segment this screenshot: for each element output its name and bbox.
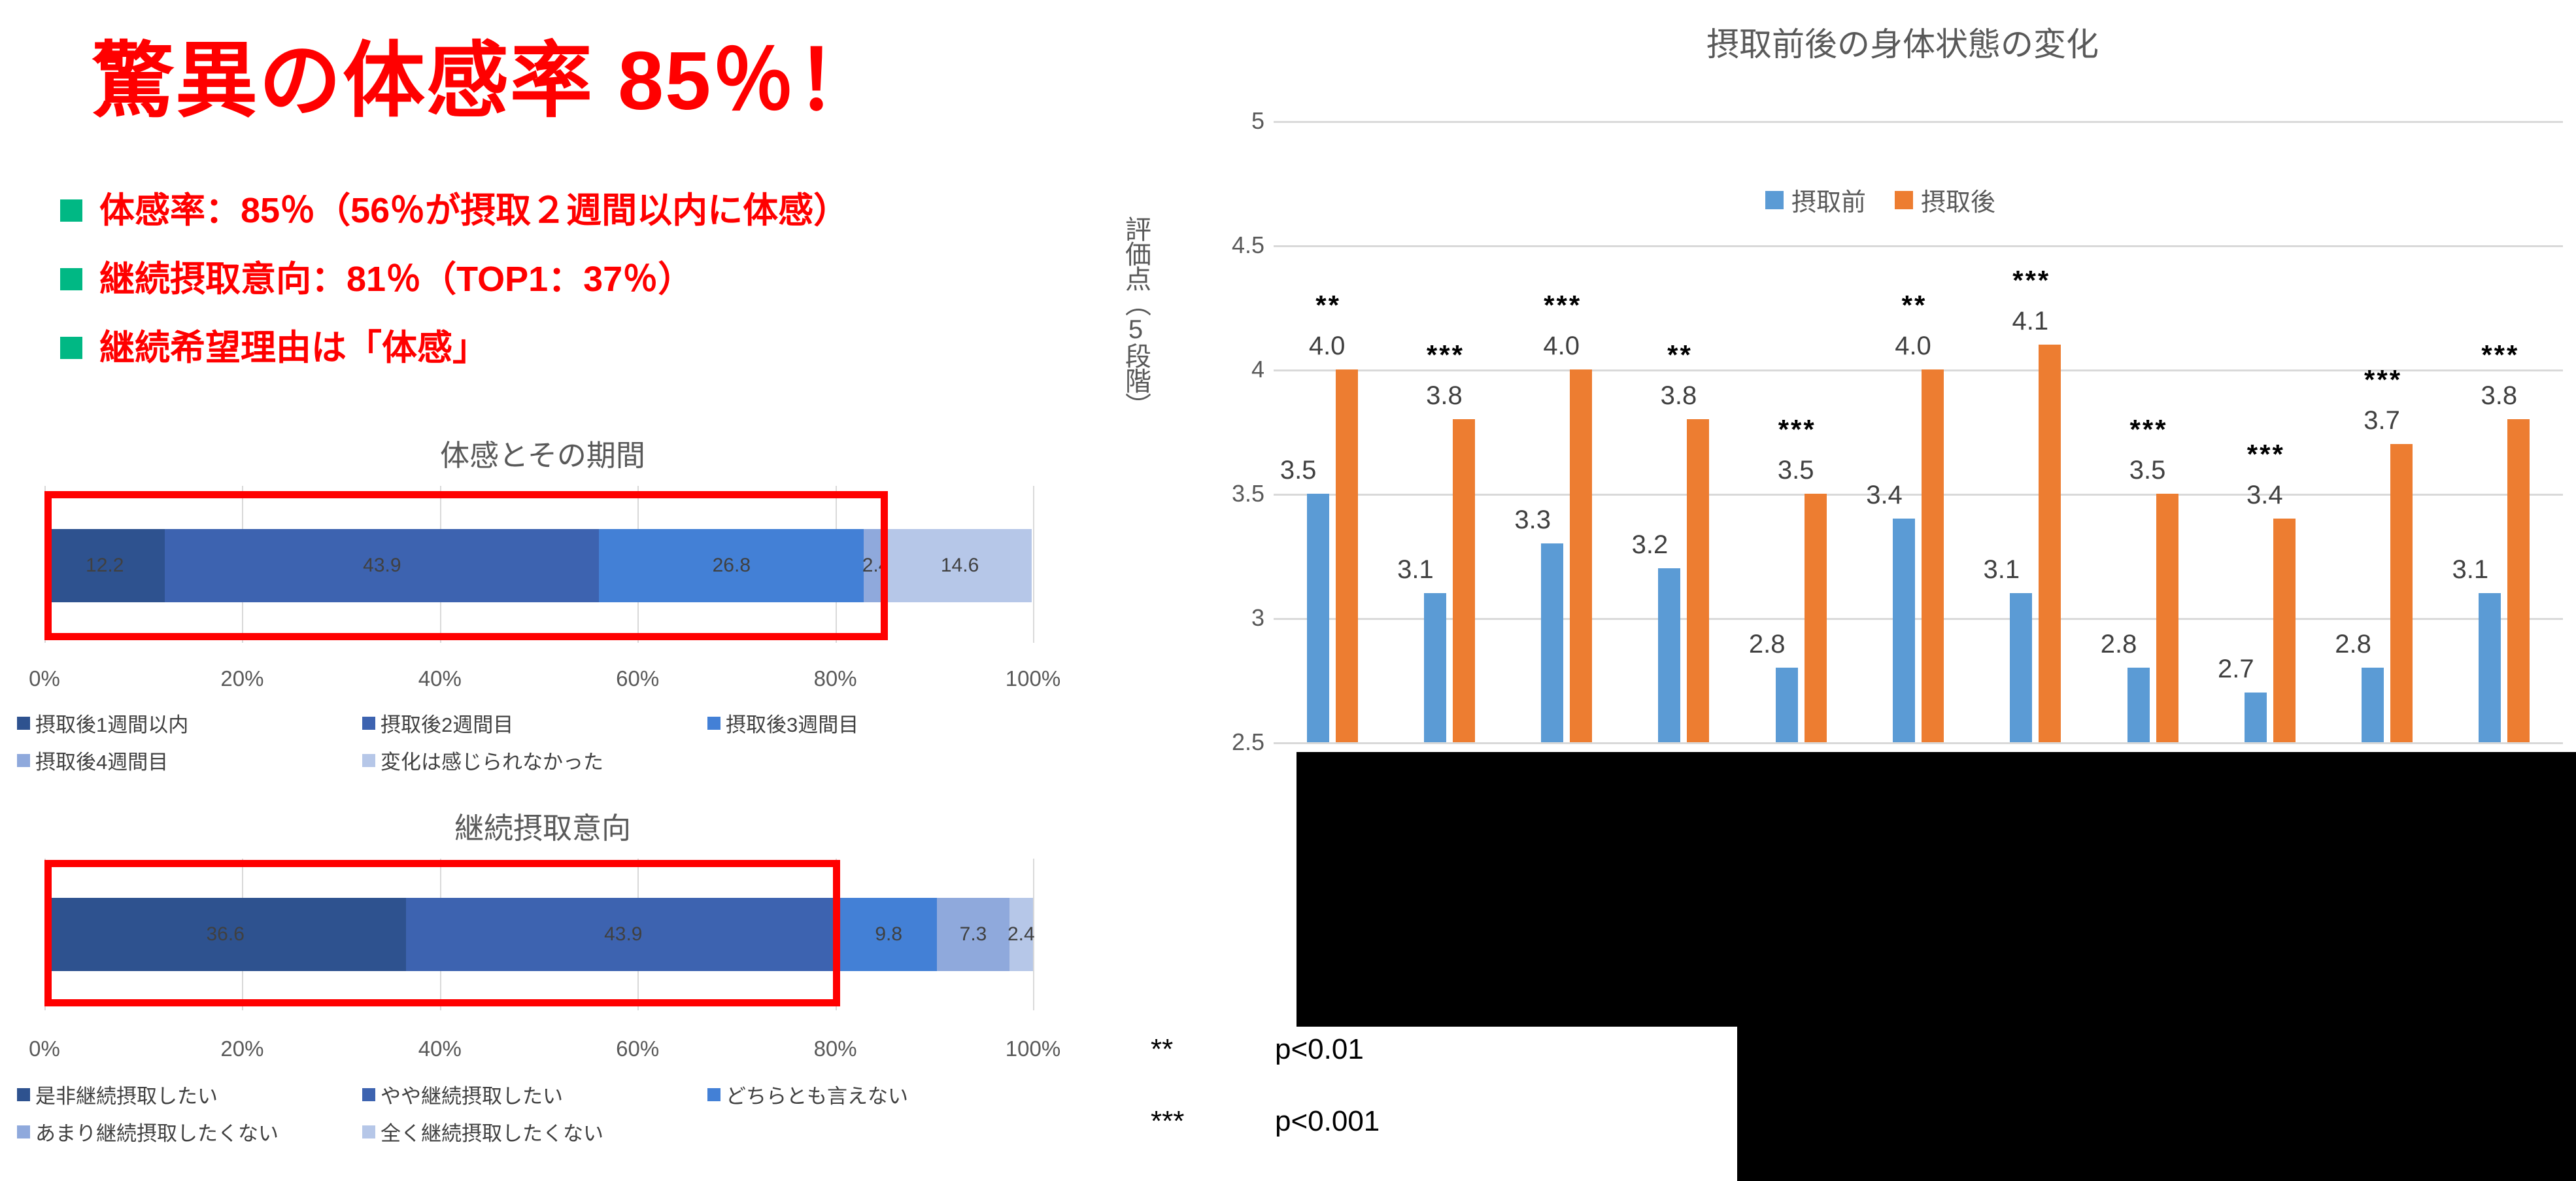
value-label-before: 3.5 bbox=[1280, 456, 1317, 485]
legend-swatch bbox=[17, 754, 30, 767]
legend-swatch bbox=[707, 1088, 720, 1101]
bar-before bbox=[1658, 568, 1680, 742]
legend-label: 摂取後4週間目 bbox=[35, 745, 168, 775]
bar-after bbox=[1336, 369, 1358, 742]
value-label-after: 3.5 bbox=[2129, 456, 2166, 485]
significance-marker: *** bbox=[1778, 414, 1816, 445]
x-tick-label: 100% bbox=[1006, 1036, 1060, 1061]
bar-before bbox=[1893, 519, 1915, 742]
significance-marker: *** bbox=[2012, 265, 2050, 296]
stack-segment: 36.6 bbox=[44, 898, 406, 971]
y-tick-label: 3 bbox=[1186, 604, 1264, 632]
legend-item: やや継続摂取したい bbox=[362, 1080, 707, 1109]
value-label-after: 3.8 bbox=[2481, 381, 2518, 411]
legend-label: 変化は感じられなかった bbox=[381, 745, 603, 775]
value-label-before: 2.7 bbox=[2218, 655, 2254, 684]
legend-label: あまり継続摂取したくない bbox=[35, 1117, 279, 1146]
legend-item: 変化は感じられなかった bbox=[362, 745, 707, 775]
bar-before bbox=[1541, 543, 1563, 742]
bullet-square-icon bbox=[60, 199, 82, 222]
stack-segment: 14.6 bbox=[888, 529, 1032, 602]
legend-item: 是非継続摂取したい bbox=[17, 1080, 362, 1109]
value-label-before: 2.8 bbox=[1749, 630, 1786, 659]
bullet-item-2: 継続摂取意向：81％（TOP1：37％） bbox=[60, 262, 693, 297]
chart-keizoku-intent: 継続摂取意向 36.643.99.87.32.4 0%20%40%60%80%1… bbox=[0, 804, 1085, 1154]
gridline bbox=[1033, 486, 1034, 643]
value-label-after: 3.5 bbox=[1778, 456, 1814, 485]
bar-before bbox=[2245, 693, 2267, 742]
bullet-item-1: 体感率：85％（56％が摂取２週間以内に体感） bbox=[60, 193, 849, 228]
stack-segment: 2.4 bbox=[1009, 898, 1033, 971]
legend-label: どちらとも言えない bbox=[726, 1080, 908, 1109]
chart2-x-axis: 0%20%40%60%80%100% bbox=[44, 1036, 1033, 1070]
chart3-plot-area: 2.533.544.553.54.0**3.13.8***3.34.0***3.… bbox=[1196, 121, 2563, 742]
gridline bbox=[1274, 742, 2563, 744]
chart3-y-axis-title: 評価点（5段階） bbox=[1117, 216, 1155, 582]
redaction-block-lower bbox=[1737, 1027, 2576, 1181]
bar-before bbox=[2479, 593, 2501, 742]
legend-label: 摂取後2週間目 bbox=[381, 708, 513, 738]
stack-segment: 7.3 bbox=[937, 898, 1009, 971]
bar-after bbox=[1687, 419, 1709, 742]
y-tick-label: 5 bbox=[1186, 107, 1264, 135]
significance-marker: *** bbox=[2247, 439, 2285, 470]
x-tick-label: 0% bbox=[29, 666, 60, 691]
stack-segment: 43.9 bbox=[406, 898, 840, 971]
significance-marker: ** bbox=[1315, 290, 1341, 321]
bullet-label-1: 体感率：85％（56％が摂取２週間以内に体感） bbox=[99, 193, 849, 228]
value-label-after: 3.7 bbox=[2364, 406, 2400, 436]
bar-before bbox=[1776, 668, 1798, 742]
significance-marker: ** bbox=[1902, 290, 1927, 321]
significance-marker: *** bbox=[2481, 339, 2519, 371]
legend-swatch bbox=[362, 1125, 375, 1138]
chart2-title: 継続摂取意向 bbox=[0, 804, 1085, 847]
value-label-before: 3.1 bbox=[2452, 555, 2489, 585]
bar-after bbox=[2273, 519, 2296, 742]
x-tick-label: 40% bbox=[418, 1036, 462, 1061]
x-tick-label: 0% bbox=[29, 1036, 60, 1061]
chart2-plot-area: 36.643.99.87.32.4 bbox=[44, 859, 1033, 1010]
legend-item: 摂取後3週間目 bbox=[707, 708, 1053, 738]
x-tick-label: 20% bbox=[220, 666, 263, 691]
x-tick-label: 60% bbox=[616, 666, 659, 691]
value-label-before: 2.8 bbox=[2335, 630, 2371, 659]
x-tick-label: 100% bbox=[1006, 666, 1060, 691]
bar-after bbox=[1453, 419, 1475, 742]
stack-segment: 9.8 bbox=[840, 898, 937, 971]
y-tick-label: 4.5 bbox=[1186, 231, 1264, 259]
value-label-after: 3.8 bbox=[1661, 381, 1697, 411]
bar-after bbox=[2039, 345, 2061, 742]
pnote-stars-1: ** bbox=[1151, 1033, 1173, 1066]
pnote-text-1: p<0.01 bbox=[1275, 1033, 1364, 1066]
legend-label: 是非継続摂取したい bbox=[35, 1080, 218, 1109]
bar-before bbox=[1307, 494, 1329, 742]
y-tick-label: 4 bbox=[1186, 356, 1264, 383]
page-headline: 驚異の体感率 85％！ bbox=[92, 14, 879, 133]
chart1-x-axis: 0%20%40%60%80%100% bbox=[44, 666, 1033, 700]
legend-item: あまり継続摂取したくない bbox=[17, 1117, 362, 1146]
pnote-text-2: p<0.001 bbox=[1275, 1105, 1380, 1138]
value-label-after: 3.4 bbox=[2246, 481, 2283, 510]
stack-segment: 2.4 bbox=[864, 529, 887, 602]
legend-item: どちらとも言えない bbox=[707, 1080, 1053, 1109]
bar-after bbox=[1570, 369, 1592, 742]
stack-segment: 26.8 bbox=[599, 529, 864, 602]
chart2-legend: 是非継続摂取したいやや継続摂取したいどちらとも言えないあまり継続摂取したくない全… bbox=[17, 1080, 1063, 1154]
bullet-item-3: 継続希望理由は「体感」 bbox=[60, 330, 488, 366]
bullet-square-icon bbox=[60, 337, 82, 359]
value-label-before: 3.1 bbox=[1983, 555, 2020, 585]
legend-item: 摂取後1週間以内 bbox=[17, 708, 362, 738]
bar-after bbox=[1805, 494, 1827, 742]
legend-label: 全く継続摂取したくない bbox=[381, 1117, 603, 1146]
chart1-legend: 摂取後1週間以内摂取後2週間目摂取後3週間目摂取後4週間目変化は感じられなかった bbox=[17, 708, 1063, 783]
legend-swatch bbox=[362, 717, 375, 730]
significance-marker: *** bbox=[2130, 414, 2168, 445]
stack-segment: 12.2 bbox=[44, 529, 165, 602]
legend-swatch bbox=[362, 754, 375, 767]
legend-swatch bbox=[362, 1088, 375, 1101]
significance-marker: *** bbox=[1544, 290, 1582, 321]
x-tick-label: 80% bbox=[814, 666, 857, 691]
legend-item: 摂取後4週間目 bbox=[17, 745, 362, 775]
value-label-before: 3.3 bbox=[1514, 505, 1551, 535]
significance-marker: *** bbox=[1427, 339, 1465, 371]
gridline bbox=[1274, 121, 2563, 123]
bar-after bbox=[1922, 369, 1944, 742]
legend-label: 摂取後3週間目 bbox=[726, 708, 858, 738]
chart3-title: 摂取前後の身体状態の変化 bbox=[1281, 18, 2524, 65]
value-label-after: 4.1 bbox=[2012, 307, 2048, 336]
value-label-after: 4.0 bbox=[1543, 332, 1580, 361]
x-tick-label: 20% bbox=[220, 1036, 263, 1061]
legend-swatch bbox=[707, 717, 720, 730]
legend-swatch bbox=[17, 1088, 30, 1101]
chart-taikan-period: 体感とその期間 12.243.926.82.414.6 0%20%40%60%8… bbox=[0, 432, 1085, 783]
significance-marker: ** bbox=[1667, 339, 1693, 371]
gridline bbox=[1274, 245, 2563, 247]
bullet-square-icon bbox=[60, 268, 82, 290]
chart1-title: 体感とその期間 bbox=[0, 432, 1085, 474]
legend-swatch bbox=[17, 1125, 30, 1138]
stacked-bar: 12.243.926.82.414.6 bbox=[44, 529, 1033, 602]
bar-after bbox=[2390, 444, 2413, 742]
value-label-before: 2.8 bbox=[2101, 630, 2137, 659]
x-tick-label: 80% bbox=[814, 1036, 857, 1061]
pnote-stars-2: *** bbox=[1151, 1105, 1184, 1138]
stacked-bar: 36.643.99.87.32.4 bbox=[44, 898, 1033, 971]
bullet-label-3: 継続希望理由は「体感」 bbox=[99, 330, 488, 366]
chart1-plot-area: 12.243.926.82.414.6 bbox=[44, 486, 1033, 643]
y-tick-label: 2.5 bbox=[1186, 728, 1264, 756]
bar-before bbox=[2362, 668, 2384, 742]
x-tick-label: 40% bbox=[418, 666, 462, 691]
value-label-before: 3.4 bbox=[1866, 481, 1903, 510]
legend-item: 摂取後2週間目 bbox=[362, 708, 707, 738]
bar-before bbox=[2127, 668, 2150, 742]
significance-marker: *** bbox=[2364, 364, 2402, 396]
stack-segment: 43.9 bbox=[165, 529, 599, 602]
bullet-label-2: 継続摂取意向：81％（TOP1：37％） bbox=[99, 262, 693, 297]
value-label-after: 4.0 bbox=[1309, 332, 1346, 361]
bar-before bbox=[2010, 593, 2032, 742]
y-tick-label: 3.5 bbox=[1186, 480, 1264, 507]
value-label-before: 3.2 bbox=[1632, 530, 1669, 560]
legend-label: 摂取後1週間以内 bbox=[35, 708, 188, 738]
legend-item: 全く継続摂取したくない bbox=[362, 1117, 707, 1146]
value-label-after: 4.0 bbox=[1895, 332, 1931, 361]
value-label-before: 3.1 bbox=[1397, 555, 1434, 585]
legend-swatch bbox=[17, 717, 30, 730]
legend-label: やや継続摂取したい bbox=[381, 1080, 563, 1109]
x-tick-label: 60% bbox=[616, 1036, 659, 1061]
redaction-block-main bbox=[1296, 752, 2576, 1027]
value-label-after: 3.8 bbox=[1426, 381, 1463, 411]
bar-before bbox=[1424, 593, 1446, 742]
bar-after bbox=[2507, 419, 2530, 742]
bar-after bbox=[2156, 494, 2178, 742]
